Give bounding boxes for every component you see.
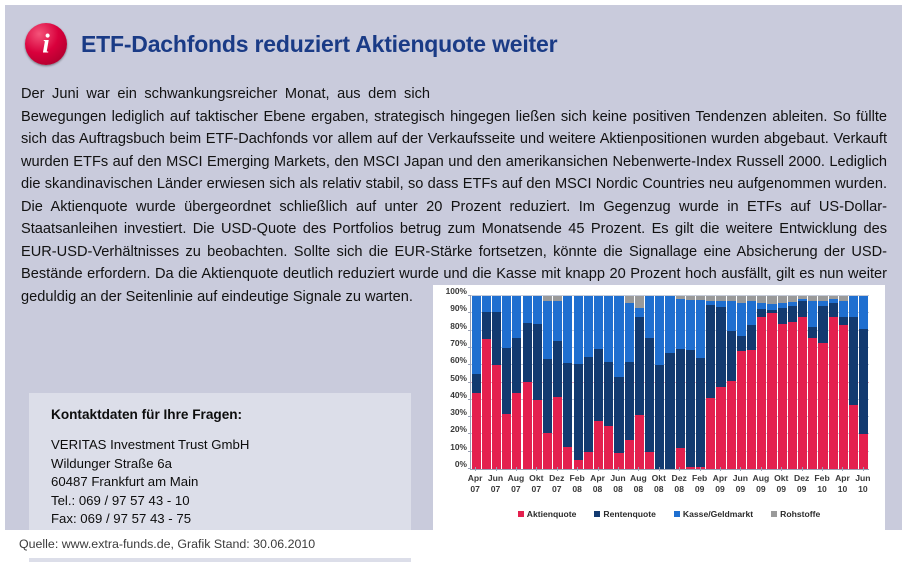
contact-company: VERITAS Investment Trust GmbH <box>51 436 411 455</box>
x-axis-tick-mark <box>700 467 701 471</box>
x-axis-tick-label: Jun09 <box>733 473 748 495</box>
x-axis-tick-label: Okt08 <box>652 473 666 495</box>
contact-fax: Fax: 069 / 97 57 43 - 75 <box>51 510 411 529</box>
page-header: ETF-Dachfonds reduziert Aktienquote weit… <box>5 5 902 69</box>
bar-segment <box>533 296 542 324</box>
bar-segment <box>737 351 746 469</box>
bar-segment <box>686 300 695 350</box>
bar-segment <box>502 414 511 469</box>
y-axis-tick-label: 80% <box>450 321 467 331</box>
y-axis-tick-label: 70% <box>450 338 467 348</box>
chart-bar <box>778 296 787 469</box>
chart-bar <box>818 296 827 469</box>
bar-segment <box>839 325 848 469</box>
legend-swatch <box>518 511 524 517</box>
x-axis-tick-label: Aug08 <box>630 473 647 495</box>
bar-segment <box>574 364 583 460</box>
chart-bar <box>645 296 654 469</box>
bar-segment <box>727 301 736 330</box>
bar-segment <box>686 350 695 468</box>
bar-segment <box>706 398 715 469</box>
bar-segment <box>727 381 736 469</box>
chart-bar <box>706 296 715 469</box>
chart-bar <box>563 296 572 469</box>
x-axis-tick-mark <box>863 467 864 471</box>
chart-bar <box>696 296 705 469</box>
bar-segment <box>737 336 746 352</box>
bar-segment <box>686 467 695 469</box>
bar-segment <box>533 324 542 400</box>
bar-segment <box>492 365 501 469</box>
bar-segment <box>563 363 572 447</box>
chart-bar <box>849 296 858 469</box>
bar-segment <box>645 452 654 469</box>
source-note: Quelle: www.extra-funds.de, Grafik Stand… <box>19 537 315 551</box>
bar-segment <box>716 387 725 469</box>
chart-bar <box>727 296 736 469</box>
x-axis-tick-mark <box>781 467 782 471</box>
newsletter-page: ETF-Dachfonds reduziert Aktienquote weit… <box>0 0 907 558</box>
bar-segment <box>635 308 644 317</box>
chart-bar <box>502 296 511 469</box>
bar-segment <box>767 296 776 304</box>
x-axis-tick-mark <box>761 467 762 471</box>
bar-segment <box>553 341 562 397</box>
legend-item: Aktienquote <box>518 509 577 519</box>
x-axis-tick-mark <box>638 467 639 471</box>
bar-segment <box>472 374 481 393</box>
x-axis-tick-label: Dez08 <box>672 473 687 495</box>
portfolio-allocation-chart: 0%10%20%30%40%50%60%70%80%90%100% Apr07J… <box>433 285 885 533</box>
bar-segment <box>543 301 552 359</box>
bar-segment <box>594 349 603 421</box>
bar-segment <box>696 358 705 467</box>
bar-segment <box>778 296 787 303</box>
legend-label: Rentenquote <box>603 509 656 519</box>
bar-segment <box>737 296 746 303</box>
bar-segment <box>808 338 817 469</box>
legend-swatch <box>594 511 600 517</box>
bar-segment <box>849 405 858 469</box>
chart-bar <box>839 296 848 469</box>
bar-segment <box>747 325 756 350</box>
chart-bar <box>604 296 613 469</box>
bar-segment <box>818 306 827 342</box>
bar-segment <box>829 303 838 317</box>
y-axis-tick-label: 10% <box>450 442 467 452</box>
bar-segment <box>665 296 674 353</box>
chart-x-axis: Apr07Jun07Aug07Okt07Dez07Feb08Apr08Jun08… <box>470 471 868 505</box>
bar-segment <box>594 296 603 349</box>
bar-segment <box>808 327 817 337</box>
x-axis-tick-mark <box>740 467 741 471</box>
chart-plot-area: 0%10%20%30%40%50%60%70%80%90%100% <box>470 296 869 470</box>
chart-text-wrap-spacer <box>444 83 887 84</box>
bar-segment <box>584 296 593 357</box>
x-axis-tick-label: Feb10 <box>814 473 829 495</box>
bar-segment <box>533 400 542 469</box>
chart-bar <box>829 296 838 469</box>
bar-segment <box>645 296 654 338</box>
chart-bar <box>482 296 491 469</box>
bar-segment <box>778 308 787 324</box>
bar-segment <box>482 312 491 340</box>
x-axis-tick-label: Okt07 <box>529 473 543 495</box>
chart-bar <box>788 296 797 469</box>
bar-segment <box>614 377 623 452</box>
bar-segment <box>788 306 797 322</box>
chart-bar <box>584 296 593 469</box>
bar-segment <box>482 296 491 312</box>
x-axis-tick-mark <box>842 467 843 471</box>
x-axis-tick-label: Apr08 <box>590 473 605 495</box>
page-title: ETF-Dachfonds reduziert Aktienquote weit… <box>81 31 557 58</box>
y-axis-tick-label: 0% <box>455 459 467 469</box>
x-axis-tick-mark <box>679 467 680 471</box>
bar-segment <box>706 305 715 398</box>
chart-bar <box>655 296 664 469</box>
legend-label: Kasse/Geldmarkt <box>683 509 753 519</box>
chart-bar <box>737 296 746 469</box>
chart-bar <box>614 296 623 469</box>
contact-city: 60487 Frankfurt am Main <box>51 473 411 492</box>
bar-segment <box>574 296 583 363</box>
bar-segment <box>604 426 613 469</box>
x-axis-tick-mark <box>577 467 578 471</box>
x-axis-tick-mark <box>822 467 823 471</box>
bar-segment <box>553 301 562 341</box>
y-axis-tick-label: 30% <box>450 407 467 417</box>
chart-bar <box>798 296 807 469</box>
bar-segment <box>625 440 634 469</box>
bar-segment <box>727 331 736 381</box>
chart-bar <box>859 296 868 469</box>
bar-segment <box>472 393 481 469</box>
chart-legend: AktienquoteRentenquoteKasse/GeldmarktRoh… <box>470 509 868 519</box>
x-axis-tick-label: Aug09 <box>752 473 769 495</box>
x-axis-tick-mark <box>618 467 619 471</box>
bar-segment <box>655 296 664 365</box>
bar-segment <box>523 382 532 469</box>
chart-bar <box>472 296 481 469</box>
bar-segment <box>502 296 511 348</box>
bar-segment <box>747 301 756 326</box>
chart-bar <box>747 296 756 469</box>
x-axis-tick-label: Dez07 <box>549 473 564 495</box>
y-axis-tick-label: 90% <box>450 303 467 313</box>
bar-segment <box>798 301 807 317</box>
bar-segment <box>635 415 644 469</box>
x-axis-tick-label: Aug07 <box>508 473 525 495</box>
bar-segment <box>614 296 623 377</box>
bar-segment <box>757 309 766 317</box>
bar-segment <box>778 324 787 469</box>
legend-swatch <box>674 511 680 517</box>
chart-bar <box>625 296 634 469</box>
bar-segment <box>747 350 756 469</box>
bar-segment <box>523 323 532 382</box>
x-axis-tick-label: Jun07 <box>488 473 503 495</box>
chart-bars <box>471 296 869 469</box>
bar-segment <box>676 448 685 469</box>
bar-segment <box>512 296 521 338</box>
x-axis-tick-mark <box>536 467 537 471</box>
bar-segment <box>665 353 674 469</box>
bar-segment <box>492 312 501 366</box>
x-axis-tick-mark <box>659 467 660 471</box>
chart-bar <box>686 296 695 469</box>
x-axis-tick-label: Okt09 <box>774 473 788 495</box>
chart-bar <box>767 296 776 469</box>
x-axis-tick-label: Apr07 <box>468 473 483 495</box>
x-axis-tick-mark <box>557 467 558 471</box>
y-axis-tick-label: 60% <box>450 355 467 365</box>
legend-item: Rohstoffe <box>771 509 820 519</box>
y-axis-tick-label: 100% <box>446 286 467 296</box>
bar-segment <box>594 421 603 469</box>
x-axis-tick-mark <box>475 467 476 471</box>
x-axis-tick-mark <box>720 467 721 471</box>
chart-bar <box>594 296 603 469</box>
x-axis-tick-mark <box>496 467 497 471</box>
x-axis-tick-label: Apr09 <box>713 473 728 495</box>
page-footer: Quelle: www.extra-funds.de, Grafik Stand… <box>5 530 907 558</box>
chart-bar <box>523 296 532 469</box>
bar-segment <box>676 299 685 348</box>
bar-segment <box>849 296 858 317</box>
bar-segment <box>584 452 593 469</box>
contact-street: Wildunger Straße 6a <box>51 455 411 474</box>
bar-segment <box>553 397 562 469</box>
bar-segment <box>737 303 746 336</box>
bar-segment <box>472 296 481 374</box>
bar-segment <box>767 313 776 469</box>
chart-bar <box>635 296 644 469</box>
chart-bar <box>492 296 501 469</box>
bar-segment <box>635 296 644 308</box>
legend-item: Rentenquote <box>594 509 656 519</box>
bar-segment <box>757 317 766 469</box>
chart-bar <box>716 296 725 469</box>
y-axis-tick-label: 40% <box>450 390 467 400</box>
bar-segment <box>492 296 501 312</box>
chart-bar <box>808 296 817 469</box>
bar-segment <box>645 338 654 451</box>
bar-segment <box>523 296 532 323</box>
info-icon <box>25 23 67 65</box>
bar-segment <box>859 296 868 329</box>
chart-bar <box>676 296 685 469</box>
contact-phone: Tel.: 069 / 97 57 43 - 10 <box>51 492 411 511</box>
chart-bar <box>553 296 562 469</box>
bar-segment <box>584 357 593 452</box>
bar-segment <box>849 317 858 405</box>
x-axis-tick-label: Feb08 <box>570 473 585 495</box>
legend-swatch <box>771 511 777 517</box>
bar-segment <box>625 362 634 440</box>
bar-segment <box>543 359 552 433</box>
bar-segment <box>676 349 685 448</box>
bar-segment <box>604 362 613 426</box>
contact-title: Kontaktdaten für Ihre Fragen: <box>51 407 411 422</box>
x-axis-tick-mark <box>516 467 517 471</box>
bar-segment <box>482 339 491 469</box>
bar-segment <box>839 317 848 326</box>
article-text: Der Juni war ein schwankungsreicher Mona… <box>21 83 887 308</box>
y-axis-tick-label: 20% <box>450 424 467 434</box>
article-paragraph: Der Juni war ein schwankungsreicher Mona… <box>21 83 887 308</box>
x-axis-tick-label: Dez09 <box>794 473 809 495</box>
chart-bar <box>533 296 542 469</box>
bar-segment <box>655 365 664 469</box>
bar-segment <box>839 301 848 317</box>
chart-bar <box>543 296 552 469</box>
bar-segment <box>502 348 511 414</box>
bar-segment <box>543 433 552 469</box>
chart-bar <box>574 296 583 469</box>
bar-segment <box>512 338 521 393</box>
bar-segment <box>859 434 868 469</box>
bar-segment <box>563 447 572 469</box>
chart-inner: 0%10%20%30%40%50%60%70%80%90%100% Apr07J… <box>433 285 885 533</box>
bar-segment <box>859 329 868 435</box>
legend-label: Aktienquote <box>527 509 577 519</box>
chart-bar <box>757 296 766 469</box>
bar-segment <box>716 307 725 387</box>
bar-segment <box>512 393 521 469</box>
bar-segment <box>818 343 827 469</box>
bar-segment <box>625 303 634 362</box>
bar-segment <box>808 301 817 327</box>
x-axis-tick-label: Jun08 <box>610 473 625 495</box>
bar-segment <box>635 317 644 415</box>
chart-bar <box>665 296 674 469</box>
legend-label: Rohstoffe <box>780 509 820 519</box>
bar-segment <box>563 296 572 363</box>
x-axis-tick-label: Feb09 <box>692 473 707 495</box>
x-axis-tick-label: Jun10 <box>855 473 870 495</box>
x-axis-tick-mark <box>802 467 803 471</box>
bar-segment <box>625 296 634 303</box>
bar-segment <box>788 322 797 469</box>
chart-bar <box>512 296 521 469</box>
bar-segment <box>798 317 807 469</box>
bar-segment <box>757 296 766 303</box>
x-axis-tick-label: Apr10 <box>835 473 850 495</box>
bar-segment <box>696 300 705 358</box>
bar-segment <box>829 317 838 469</box>
legend-item: Kasse/Geldmarkt <box>674 509 753 519</box>
bar-segment <box>604 296 613 362</box>
y-axis-tick-label: 50% <box>450 373 467 383</box>
x-axis-tick-mark <box>598 467 599 471</box>
